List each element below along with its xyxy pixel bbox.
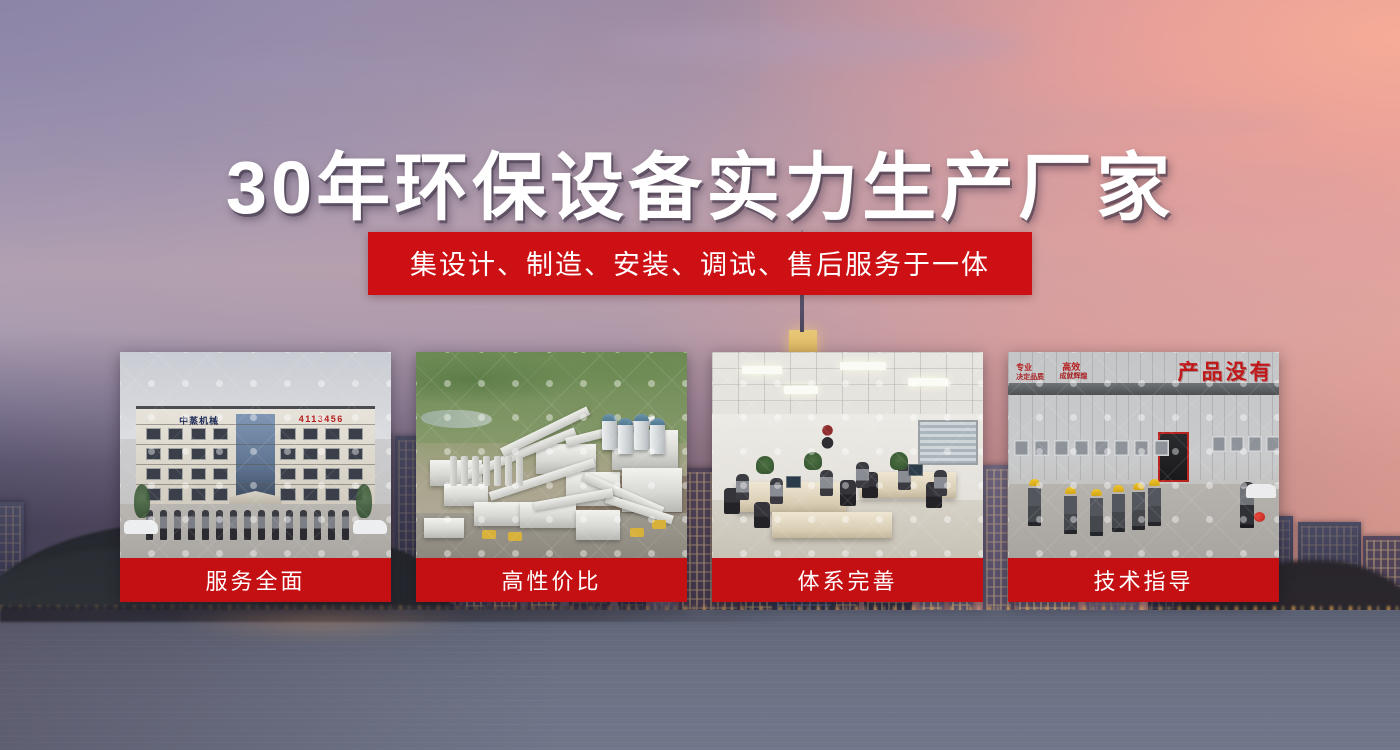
excavator <box>482 530 496 539</box>
staff-person <box>314 510 321 540</box>
staff-person <box>328 510 335 540</box>
staff-person <box>258 510 265 540</box>
potted-plant <box>804 452 822 470</box>
factory-window <box>1230 436 1244 452</box>
building-window <box>280 488 295 500</box>
staff-person <box>202 510 209 540</box>
building-floor-line <box>136 484 375 485</box>
ceiling-light-panel <box>908 378 948 386</box>
staff-person <box>272 510 279 540</box>
safety-helmet <box>1091 489 1102 496</box>
subtitle-banner: 集设计、制造、安装、调试、售后服务于一体 <box>368 232 1032 295</box>
plant-building <box>474 502 522 526</box>
office-worker <box>856 462 869 488</box>
storage-silo <box>618 418 633 454</box>
office-desk <box>772 512 892 538</box>
factory-worker <box>1090 494 1103 536</box>
building-window <box>325 428 340 440</box>
feature-card[interactable]: 产品没有 高效 专业 决定品质 成就辉煌 技术指导 <box>1008 352 1279 602</box>
building-window <box>213 428 228 440</box>
potted-plant <box>890 452 908 470</box>
building-window <box>168 448 183 460</box>
feature-card[interactable]: 高性价比 <box>416 352 687 602</box>
staff-person <box>342 510 349 540</box>
cloud <box>600 28 1030 62</box>
factory-window <box>1034 440 1049 456</box>
plant-stack <box>483 456 490 486</box>
wall-text-glory: 成就辉煌 <box>1059 371 1087 381</box>
card-photo-office-building: 中蒸机械 4113456 <box>120 352 391 558</box>
safety-helmet <box>1113 485 1124 492</box>
card-caption: 服务全面 <box>120 558 391 602</box>
building-window <box>191 428 206 440</box>
parked-car <box>353 520 387 534</box>
building-window <box>303 488 318 500</box>
tree <box>356 484 372 518</box>
office-chair <box>840 480 856 506</box>
factory-worker <box>1028 484 1041 526</box>
feature-card[interactable]: 中蒸机械 4113456 服务全面 <box>120 352 391 602</box>
building-window <box>280 468 295 480</box>
factory-window <box>1248 436 1262 452</box>
ceiling-light-panel <box>742 366 782 374</box>
staff-person <box>160 510 167 540</box>
card-photo-plant-aerial <box>416 352 687 558</box>
storage-silo <box>602 414 617 450</box>
parked-car <box>124 520 158 534</box>
factory-worker <box>1112 490 1125 532</box>
factory-worker <box>1132 488 1145 530</box>
red-helmet <box>1254 512 1265 522</box>
building-window <box>191 448 206 460</box>
factory-window <box>1212 436 1226 452</box>
plant-building <box>424 518 464 538</box>
plant-stack <box>505 456 512 486</box>
cloud <box>180 62 540 86</box>
card-photo-office-interior <box>712 352 983 558</box>
building-window <box>325 468 340 480</box>
feature-card[interactable]: 体系完善 <box>712 352 983 602</box>
building-window <box>303 428 318 440</box>
building-window <box>348 448 363 460</box>
excavator <box>508 532 522 541</box>
excavator <box>652 520 666 529</box>
building-window <box>213 488 228 500</box>
storage-silo <box>634 414 649 450</box>
building-window <box>280 428 295 440</box>
building-window <box>348 428 363 440</box>
plant-stack <box>472 456 479 486</box>
factory-slogan-text: 产品没有 <box>1178 356 1274 386</box>
river-reflection <box>140 614 504 654</box>
building-window <box>146 468 161 480</box>
building-window <box>146 428 161 440</box>
factory-window <box>1074 440 1089 456</box>
building-window <box>303 468 318 480</box>
plant-stack <box>461 456 468 486</box>
building-floor-line <box>136 444 375 445</box>
hero-banner: 30年环保设备实力生产厂家 集设计、制造、安装、调试、售后服务于一体 中蒸机械 … <box>0 0 1400 750</box>
ceiling-light-panel <box>784 386 818 394</box>
building-sign-text: 中蒸机械 <box>179 414 219 427</box>
office-worker <box>820 470 833 496</box>
building-window <box>303 448 318 460</box>
staff-person <box>174 510 181 540</box>
building-floor-line <box>136 424 375 425</box>
building-window <box>191 468 206 480</box>
page-title: 30年环保设备实力生产厂家 <box>0 128 1400 235</box>
building-phone-text: 4113456 <box>299 414 344 424</box>
safety-helmet <box>1149 479 1160 486</box>
subtitle-bar-container: 集设计、制造、安装、调试、售后服务于一体 <box>0 232 1400 295</box>
office-worker <box>770 478 783 504</box>
safety-helmet <box>1029 479 1040 486</box>
card-caption: 体系完善 <box>712 558 983 602</box>
building-window <box>146 448 161 460</box>
building-window <box>280 448 295 460</box>
computer-monitor <box>908 464 923 476</box>
plant-stack <box>516 456 523 486</box>
office-chair <box>754 502 770 528</box>
safety-helmet <box>1065 487 1076 494</box>
wall-text-quality: 决定品质 <box>1016 372 1044 382</box>
card-caption: 技术指导 <box>1008 558 1279 602</box>
office-worker <box>736 474 749 500</box>
staff-person <box>286 510 293 540</box>
safety-helmet <box>1133 483 1144 490</box>
ceiling-light-panel <box>840 362 886 370</box>
factory-window <box>1094 440 1109 456</box>
tree <box>134 484 150 518</box>
building-window <box>168 488 183 500</box>
storage-silo <box>650 418 665 454</box>
plant-stack <box>494 456 501 486</box>
building-window <box>191 488 206 500</box>
building-window <box>213 468 228 480</box>
excavator <box>630 528 644 537</box>
factory-window <box>1266 436 1279 452</box>
card-caption: 高性价比 <box>416 558 687 602</box>
feature-card-list: 中蒸机械 4113456 服务全面 <box>120 352 1280 602</box>
card-photo-factory-workers: 产品没有 高效 专业 决定品质 成就辉煌 <box>1008 352 1279 558</box>
plant-stack <box>450 456 457 486</box>
staff-person <box>188 510 195 540</box>
factory-window <box>1014 440 1029 456</box>
building-window <box>213 448 228 460</box>
staff-person <box>216 510 223 540</box>
building-window <box>168 468 183 480</box>
factory-window <box>1054 440 1069 456</box>
building-window <box>168 428 183 440</box>
plant-building <box>576 510 620 540</box>
computer-monitor <box>786 476 801 488</box>
factory-window <box>1154 440 1169 456</box>
factory-window <box>1134 440 1149 456</box>
cloud <box>430 88 730 108</box>
staff-person <box>230 510 237 540</box>
building-window <box>325 488 340 500</box>
building-floor-line <box>136 464 375 465</box>
factory-worker <box>1148 484 1161 526</box>
staff-person <box>244 510 251 540</box>
building-window <box>325 448 340 460</box>
potted-plant <box>756 456 774 474</box>
factory-window <box>1114 440 1129 456</box>
parked-car <box>1246 484 1276 498</box>
staff-person <box>300 510 307 540</box>
building-window <box>348 468 363 480</box>
office-worker <box>934 470 947 496</box>
factory-worker <box>1064 492 1077 534</box>
